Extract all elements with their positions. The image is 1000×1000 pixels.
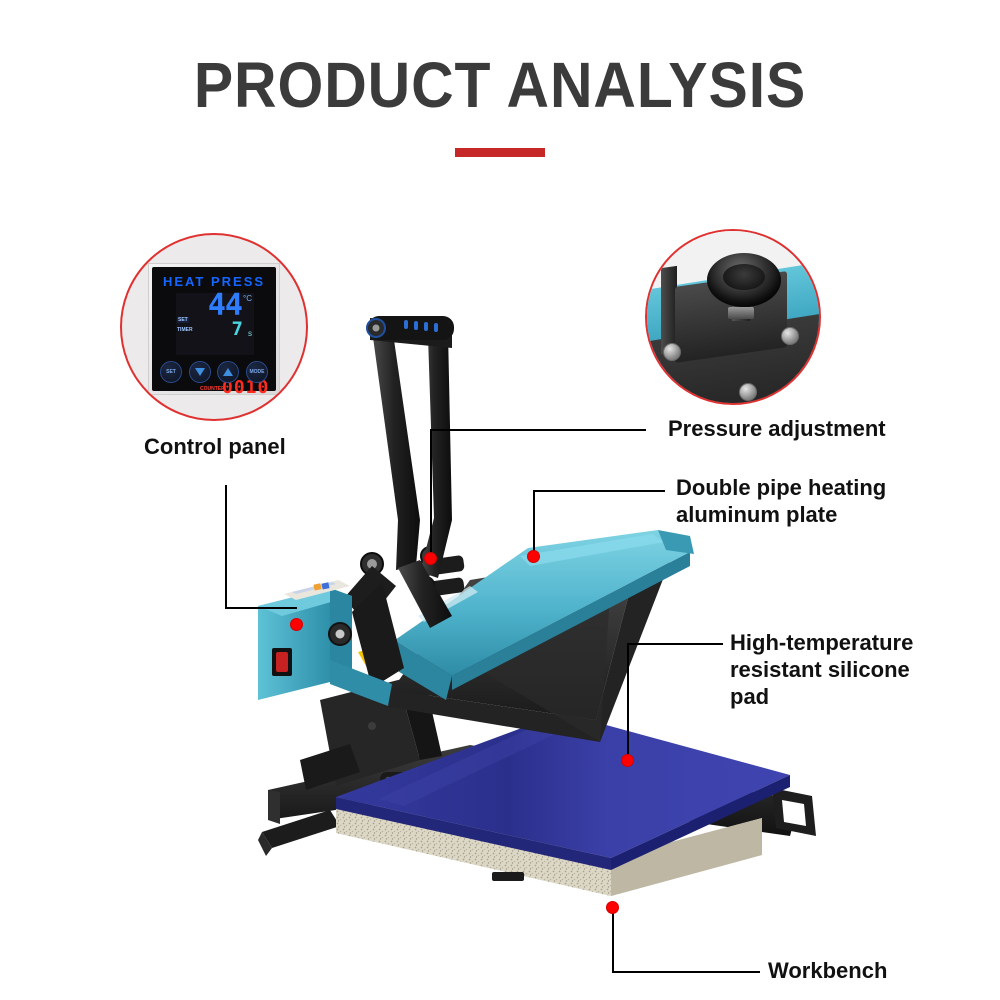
- arrow-down-icon: [195, 368, 205, 376]
- mode-button[interactable]: MODE: [246, 361, 268, 383]
- pressure-bolt-left: [663, 343, 681, 361]
- time-value: 7: [232, 320, 243, 339]
- callout-dot-silicone-pad: [621, 754, 634, 767]
- pressure-adjustment-zoom-circle: [645, 229, 821, 405]
- leader-line-pressure-vertical: [430, 430, 432, 558]
- callout-label-pressure-adjustment: Pressure adjustment: [668, 416, 886, 443]
- control-panel-button-row: SET MODE: [160, 361, 268, 383]
- arrow-down-button[interactable]: [189, 361, 211, 383]
- leader-line-heating-plate-horizontal: [533, 490, 665, 492]
- leader-line-silicone-pad-horizontal: [627, 643, 723, 645]
- callout-label-heating-plate: Double pipe heating aluminum plate: [676, 475, 886, 529]
- leader-line-heating-plate-vertical: [533, 491, 535, 556]
- pressure-bolt-bottom: [739, 383, 757, 401]
- pressure-adjustment-knob[interactable]: [707, 253, 781, 307]
- set-tag: SET: [177, 317, 189, 323]
- leader-line-control-panel-horizontal: [225, 607, 297, 609]
- control-panel-zoom-circle: HEAT PRESS SET TIMER 44 °C 7 s COUNTER 0…: [120, 233, 308, 421]
- callout-dot-control-panel: [290, 618, 303, 631]
- temperature-value: 44: [208, 291, 242, 321]
- callout-dot-pressure-adjustment: [424, 552, 437, 565]
- leader-line-silicone-pad-vertical: [627, 644, 629, 760]
- leader-line-workbench-horizontal: [612, 971, 760, 973]
- callout-dot-heating-plate: [527, 550, 540, 563]
- set-button[interactable]: SET: [160, 361, 182, 383]
- control-panel-face: HEAT PRESS SET TIMER 44 °C 7 s COUNTER 0…: [152, 267, 276, 391]
- leader-line-workbench-vertical: [612, 908, 614, 972]
- pressure-knob-nut: [728, 307, 754, 319]
- heat-press-brand-label: HEAT PRESS: [152, 274, 276, 289]
- pressure-knob-recess: [723, 264, 765, 290]
- leader-line-control-panel-vertical: [225, 485, 227, 608]
- infographic-canvas: PRODUCT ANALYSIS: [0, 0, 1000, 1000]
- leader-line-pressure-horizontal: [430, 429, 646, 431]
- arrow-up-button[interactable]: [217, 361, 239, 383]
- pressure-bolt-right: [781, 327, 799, 345]
- callout-label-control-panel: Control panel: [144, 434, 286, 461]
- callout-dot-workbench: [606, 901, 619, 914]
- callout-label-workbench: Workbench: [768, 958, 887, 985]
- temperature-unit: °C: [243, 294, 252, 303]
- callout-label-silicone-pad: High-temperature resistant silicone pad: [730, 630, 913, 710]
- time-unit: s: [248, 329, 252, 338]
- timer-tag: TIMER: [177, 327, 193, 333]
- control-panel-lcd-screen: SET TIMER 44 °C 7 s COUNTER 0010: [176, 293, 254, 355]
- arrow-up-icon: [223, 368, 233, 376]
